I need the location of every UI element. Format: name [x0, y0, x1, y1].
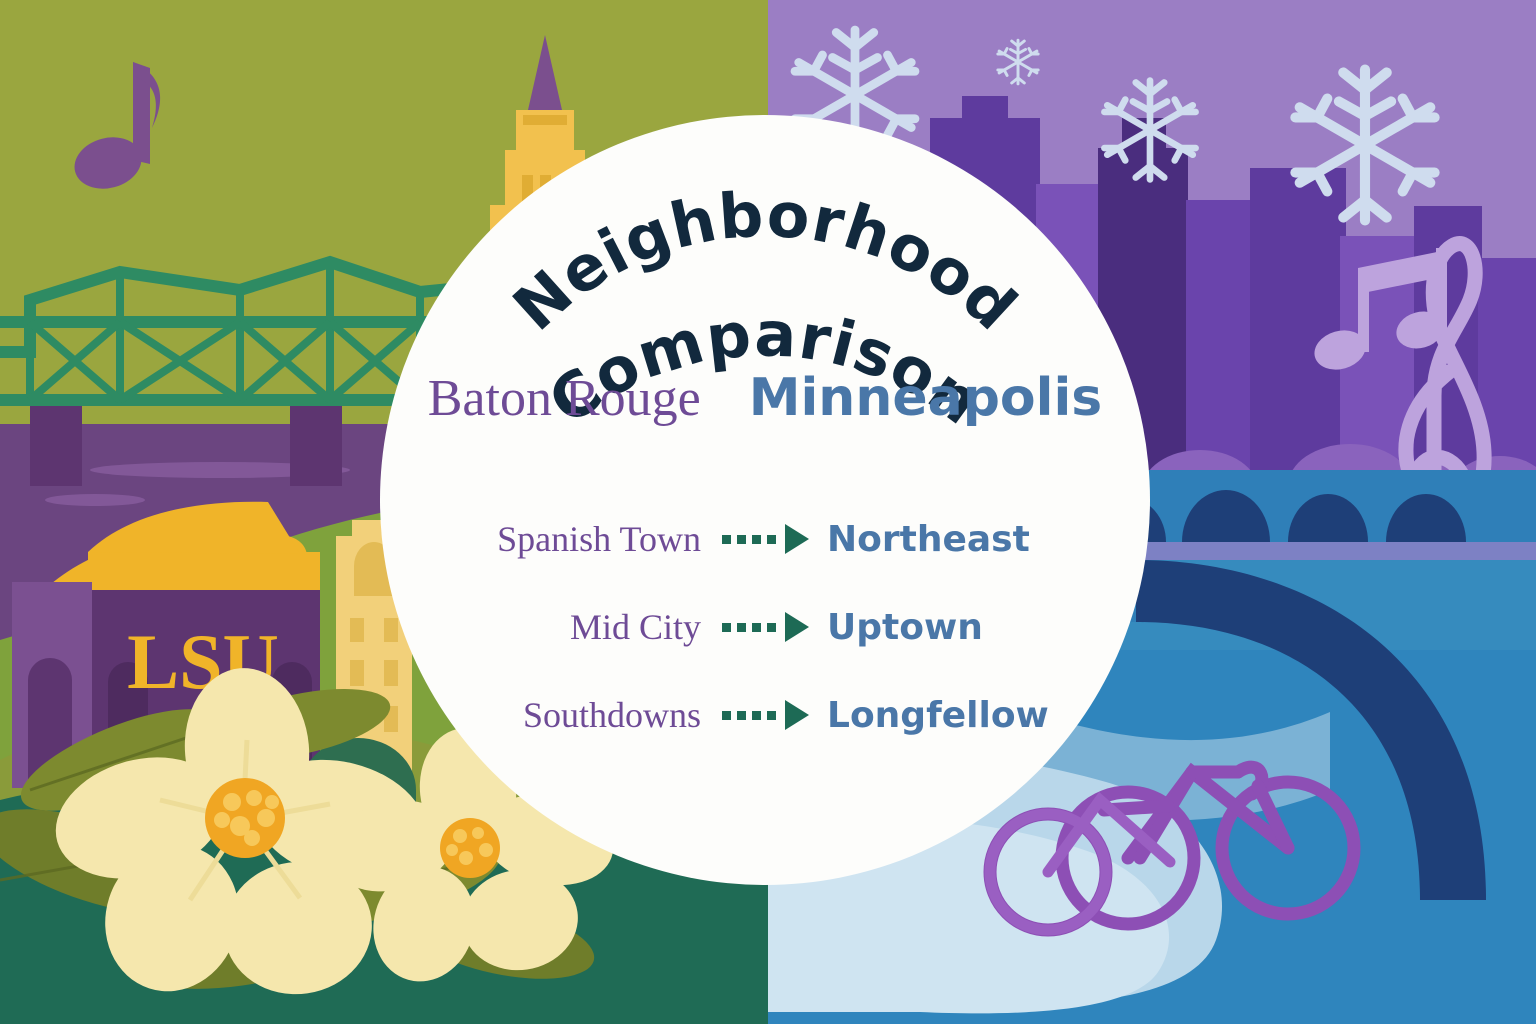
arrow-right-icon — [719, 700, 811, 730]
neighborhood-pair-row: Spanish Town Northeast — [380, 495, 1150, 583]
city-headings: Baton Rouge Minneapolis — [380, 368, 1150, 428]
city-name-baton-rouge: Baton Rouge — [428, 369, 701, 428]
neighborhood-minneapolis: Uptown — [811, 607, 1111, 648]
neighborhood-minneapolis: Northeast — [811, 519, 1111, 560]
neighborhood-baton-rouge: Mid City — [419, 606, 719, 648]
arrow-right-icon — [719, 524, 811, 554]
neighborhood-pair-row: Southdowns Longfellow — [380, 671, 1150, 759]
city-name-minneapolis: Minneapolis — [749, 368, 1103, 428]
neighborhood-pairs-list: Spanish Town Northeast Mid City Uptown S… — [380, 495, 1150, 759]
arrow-right-icon — [719, 612, 811, 642]
neighborhood-pair-row: Mid City Uptown — [380, 583, 1150, 671]
neighborhood-minneapolis: Longfellow — [811, 695, 1111, 736]
neighborhood-baton-rouge: Southdowns — [419, 694, 719, 736]
infographic-canvas: LSU — [0, 0, 1536, 1024]
neighborhood-baton-rouge: Spanish Town — [419, 518, 719, 560]
